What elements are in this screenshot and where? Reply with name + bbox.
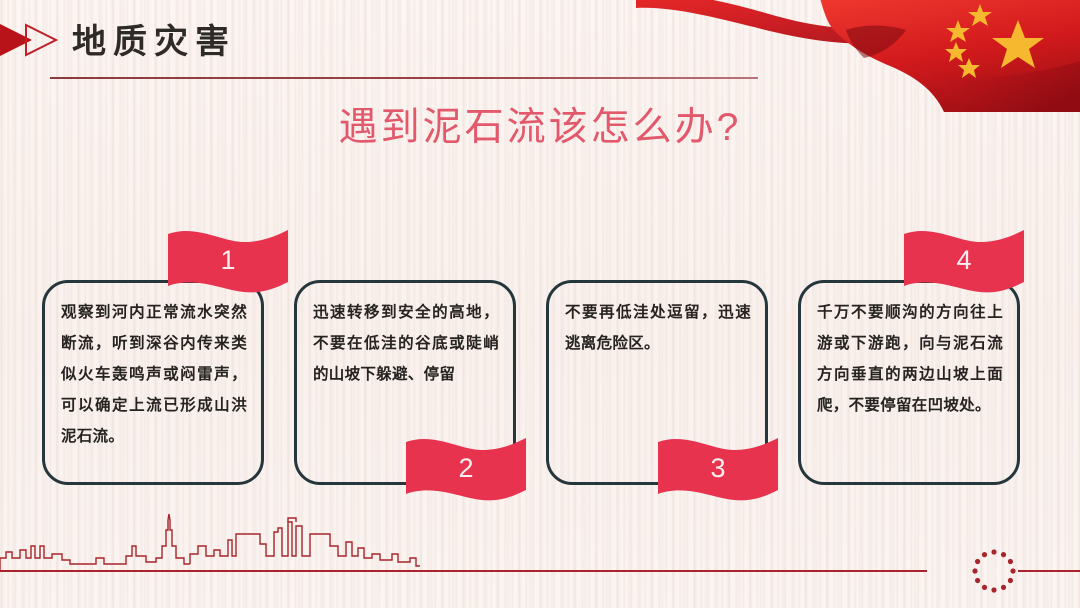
card-2-number-flag: 2 <box>404 436 528 502</box>
card-1-text: 观察到河内正常流水突然断流，听到深谷内传来类似火车轰鸣声或闷雷声，可以确定上流已… <box>61 297 247 452</box>
card-4-number-flag: 4 <box>902 228 1026 294</box>
header-divider <box>50 77 758 79</box>
page-title: 地质灾害 <box>72 14 236 63</box>
bottom-rule-left <box>0 570 927 572</box>
flag-stars <box>945 4 1044 78</box>
card-3-number-flag: 3 <box>656 436 780 502</box>
card-4-number: 4 <box>902 228 1026 294</box>
card-3-text: 不要再低洼处逗留，迅速逃离危险区。 <box>565 297 751 359</box>
card-1-number-flag: 1 <box>166 228 290 294</box>
card-1[interactable]: 观察到河内正常流水突然断流，听到深谷内传来类似火车轰鸣声或闷雷声，可以确定上流已… <box>42 280 264 485</box>
card-1-number: 1 <box>166 228 290 294</box>
bottom-rule-right <box>1018 570 1080 572</box>
card-4[interactable]: 千万不要顺沟的方向往上游或下游跑，向与泥石流方向垂直的两边山坡上面爬，不要停留在… <box>798 280 1020 485</box>
card-row: 观察到河内正常流水突然断流，听到深谷内传来类似火车轰鸣声或闷雷声，可以确定上流已… <box>0 258 1080 498</box>
card-2-text: 迅速转移到安全的高地，不要在低洼的谷底或陡峭的山坡下躲避、停留 <box>313 297 499 390</box>
card-4-text: 千万不要顺沟的方向往上游或下游跑，向与泥石流方向垂直的两边山坡上面爬，不要停留在… <box>817 297 1003 421</box>
main-title: 遇到泥石流该怎么办? <box>0 96 1080 152</box>
page-header: 地质灾害 <box>0 14 780 70</box>
city-skyline-icon <box>0 512 420 572</box>
dotted-circle-icon <box>970 547 1018 595</box>
card-2-number: 2 <box>404 436 528 502</box>
card-3-number: 3 <box>656 436 780 502</box>
slide-root: 地质灾害 遇到泥石流该怎么办? 观察到河内正常流水突然断流，听到深谷内传来类似火… <box>0 0 1080 608</box>
double-arrow-icon <box>0 22 62 58</box>
